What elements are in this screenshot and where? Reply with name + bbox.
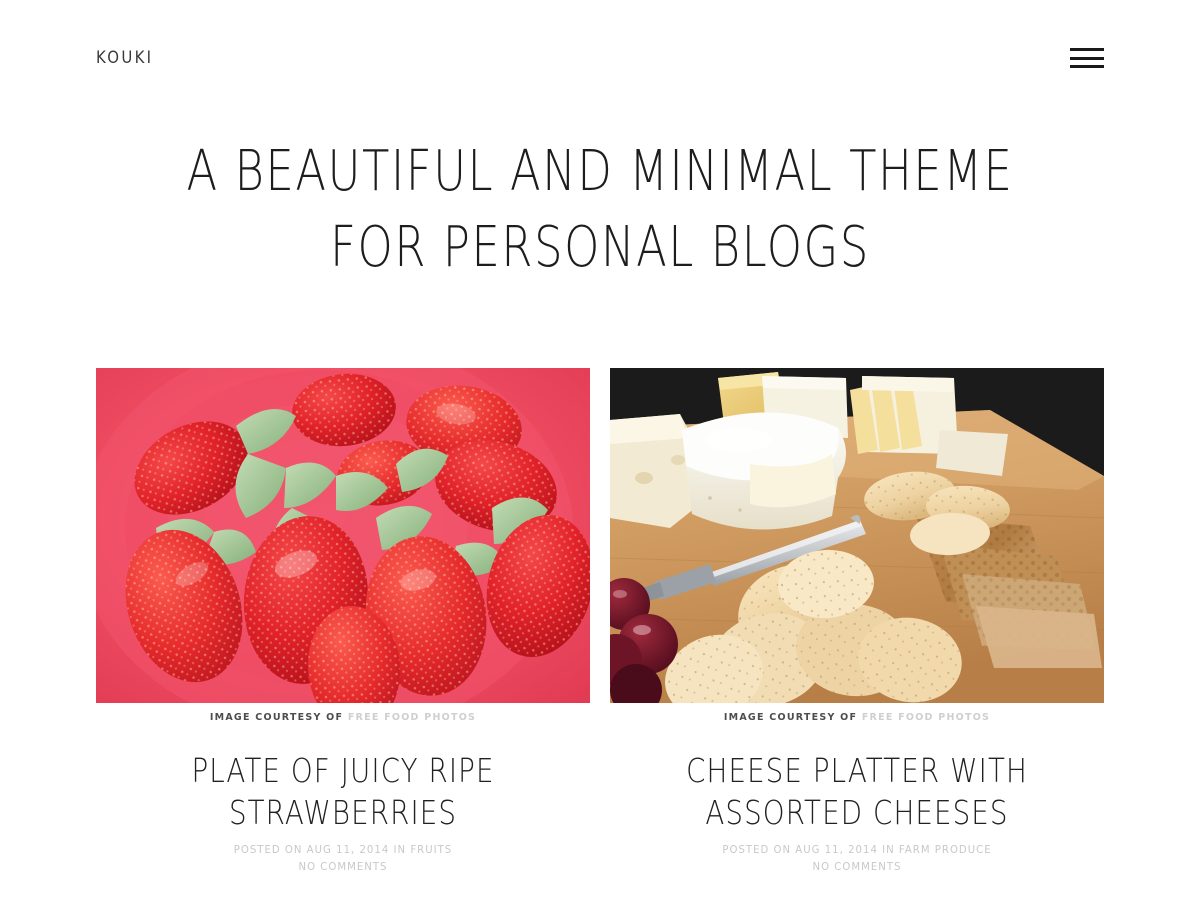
image-credit-link[interactable]: Free Food Photos bbox=[862, 712, 990, 723]
post-card: Image courtesy of Free Food Photos Chees… bbox=[610, 368, 1104, 875]
post-title-link[interactable]: Plate of juicy ripe strawberries bbox=[191, 751, 494, 831]
site-header: Kouki bbox=[0, 0, 1200, 116]
image-credit-prefix: Image courtesy of bbox=[724, 712, 857, 723]
hero-title: A beautiful and minimal theme for person… bbox=[120, 134, 1080, 285]
menu-bar-middle bbox=[1070, 57, 1104, 60]
post-thumbnail-strawberries[interactable] bbox=[96, 368, 590, 703]
post-meta-posted: Posted on Aug 11, 2014 in Fruits bbox=[116, 841, 570, 858]
post-meta-comments[interactable]: No Comments bbox=[116, 858, 570, 875]
image-credit-caption: Image courtesy of Free Food Photos bbox=[610, 711, 1104, 724]
site-logo[interactable]: Kouki bbox=[96, 50, 153, 67]
post-title: Plate of juicy ripe strawberries bbox=[136, 750, 551, 833]
post-title: Cheese platter with assorted cheeses bbox=[650, 750, 1065, 833]
menu-bar-bottom bbox=[1070, 65, 1104, 68]
image-credit-caption: Image courtesy of Free Food Photos bbox=[96, 711, 590, 724]
post-thumbnail-cheese-platter[interactable] bbox=[610, 368, 1104, 703]
post-meta-posted: Posted on Aug 11, 2014 in Farm Produce bbox=[630, 841, 1084, 858]
hamburger-menu-icon[interactable] bbox=[1070, 45, 1104, 71]
image-credit-link[interactable]: Free Food Photos bbox=[348, 712, 476, 723]
hero-section: A beautiful and minimal theme for person… bbox=[0, 134, 1200, 285]
post-meta: Posted on Aug 11, 2014 in Fruits No Comm… bbox=[116, 841, 570, 875]
post-title-link[interactable]: Cheese platter with assorted cheeses bbox=[686, 751, 1028, 831]
post-card: Image courtesy of Free Food Photos Plate… bbox=[96, 368, 590, 875]
post-meta: Posted on Aug 11, 2014 in Farm Produce N… bbox=[630, 841, 1084, 875]
menu-bar-top bbox=[1070, 48, 1104, 51]
posts-grid: Image courtesy of Free Food Photos Plate… bbox=[96, 368, 1104, 875]
image-credit-prefix: Image courtesy of bbox=[210, 712, 343, 723]
page-root: Kouki A beautiful and minimal theme for … bbox=[0, 0, 1200, 900]
post-meta-comments[interactable]: No Comments bbox=[630, 858, 1084, 875]
